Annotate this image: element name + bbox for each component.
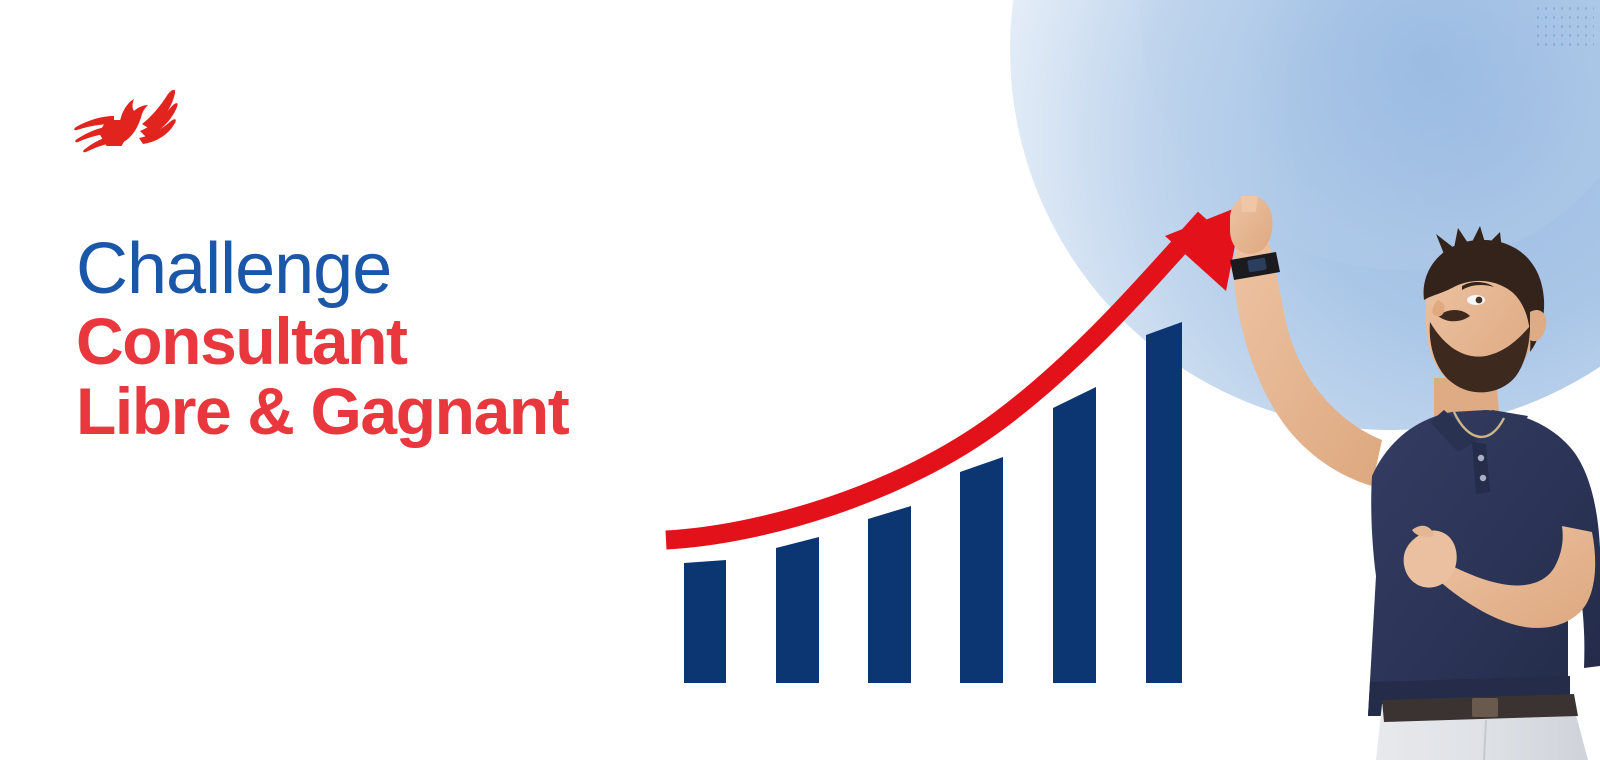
chart-bar-4 bbox=[960, 457, 1003, 683]
chart-bar-6 bbox=[1146, 322, 1182, 683]
belt-buckle bbox=[1472, 698, 1498, 717]
headline-line-3: Libre & Gagnant bbox=[76, 379, 716, 444]
shirt-button-2 bbox=[1480, 475, 1486, 481]
shirt-button-1 bbox=[1478, 455, 1484, 461]
headline: Challenge Consultant Libre & Gagnant bbox=[76, 234, 716, 444]
hair-spikes bbox=[1436, 226, 1502, 254]
growth-bar-chart bbox=[640, 180, 1260, 690]
headline-line-2: Consultant bbox=[76, 309, 716, 374]
phoenix-hexagon-logo bbox=[72, 88, 184, 154]
headline-line-1: Challenge bbox=[76, 234, 716, 305]
promo-banner: Challenge Consultant Libre & Gagnant bbox=[0, 0, 1600, 760]
person-pointing-up bbox=[1186, 196, 1600, 760]
chart-bar-3 bbox=[868, 506, 911, 683]
chart-bars bbox=[684, 322, 1182, 683]
chart-bar-2 bbox=[776, 537, 819, 683]
pupil bbox=[1476, 297, 1483, 304]
ear bbox=[1530, 310, 1546, 341]
chart-bar-1 bbox=[684, 560, 726, 683]
chart-bar-5 bbox=[1053, 387, 1096, 683]
dot-pattern bbox=[1534, 4, 1594, 48]
